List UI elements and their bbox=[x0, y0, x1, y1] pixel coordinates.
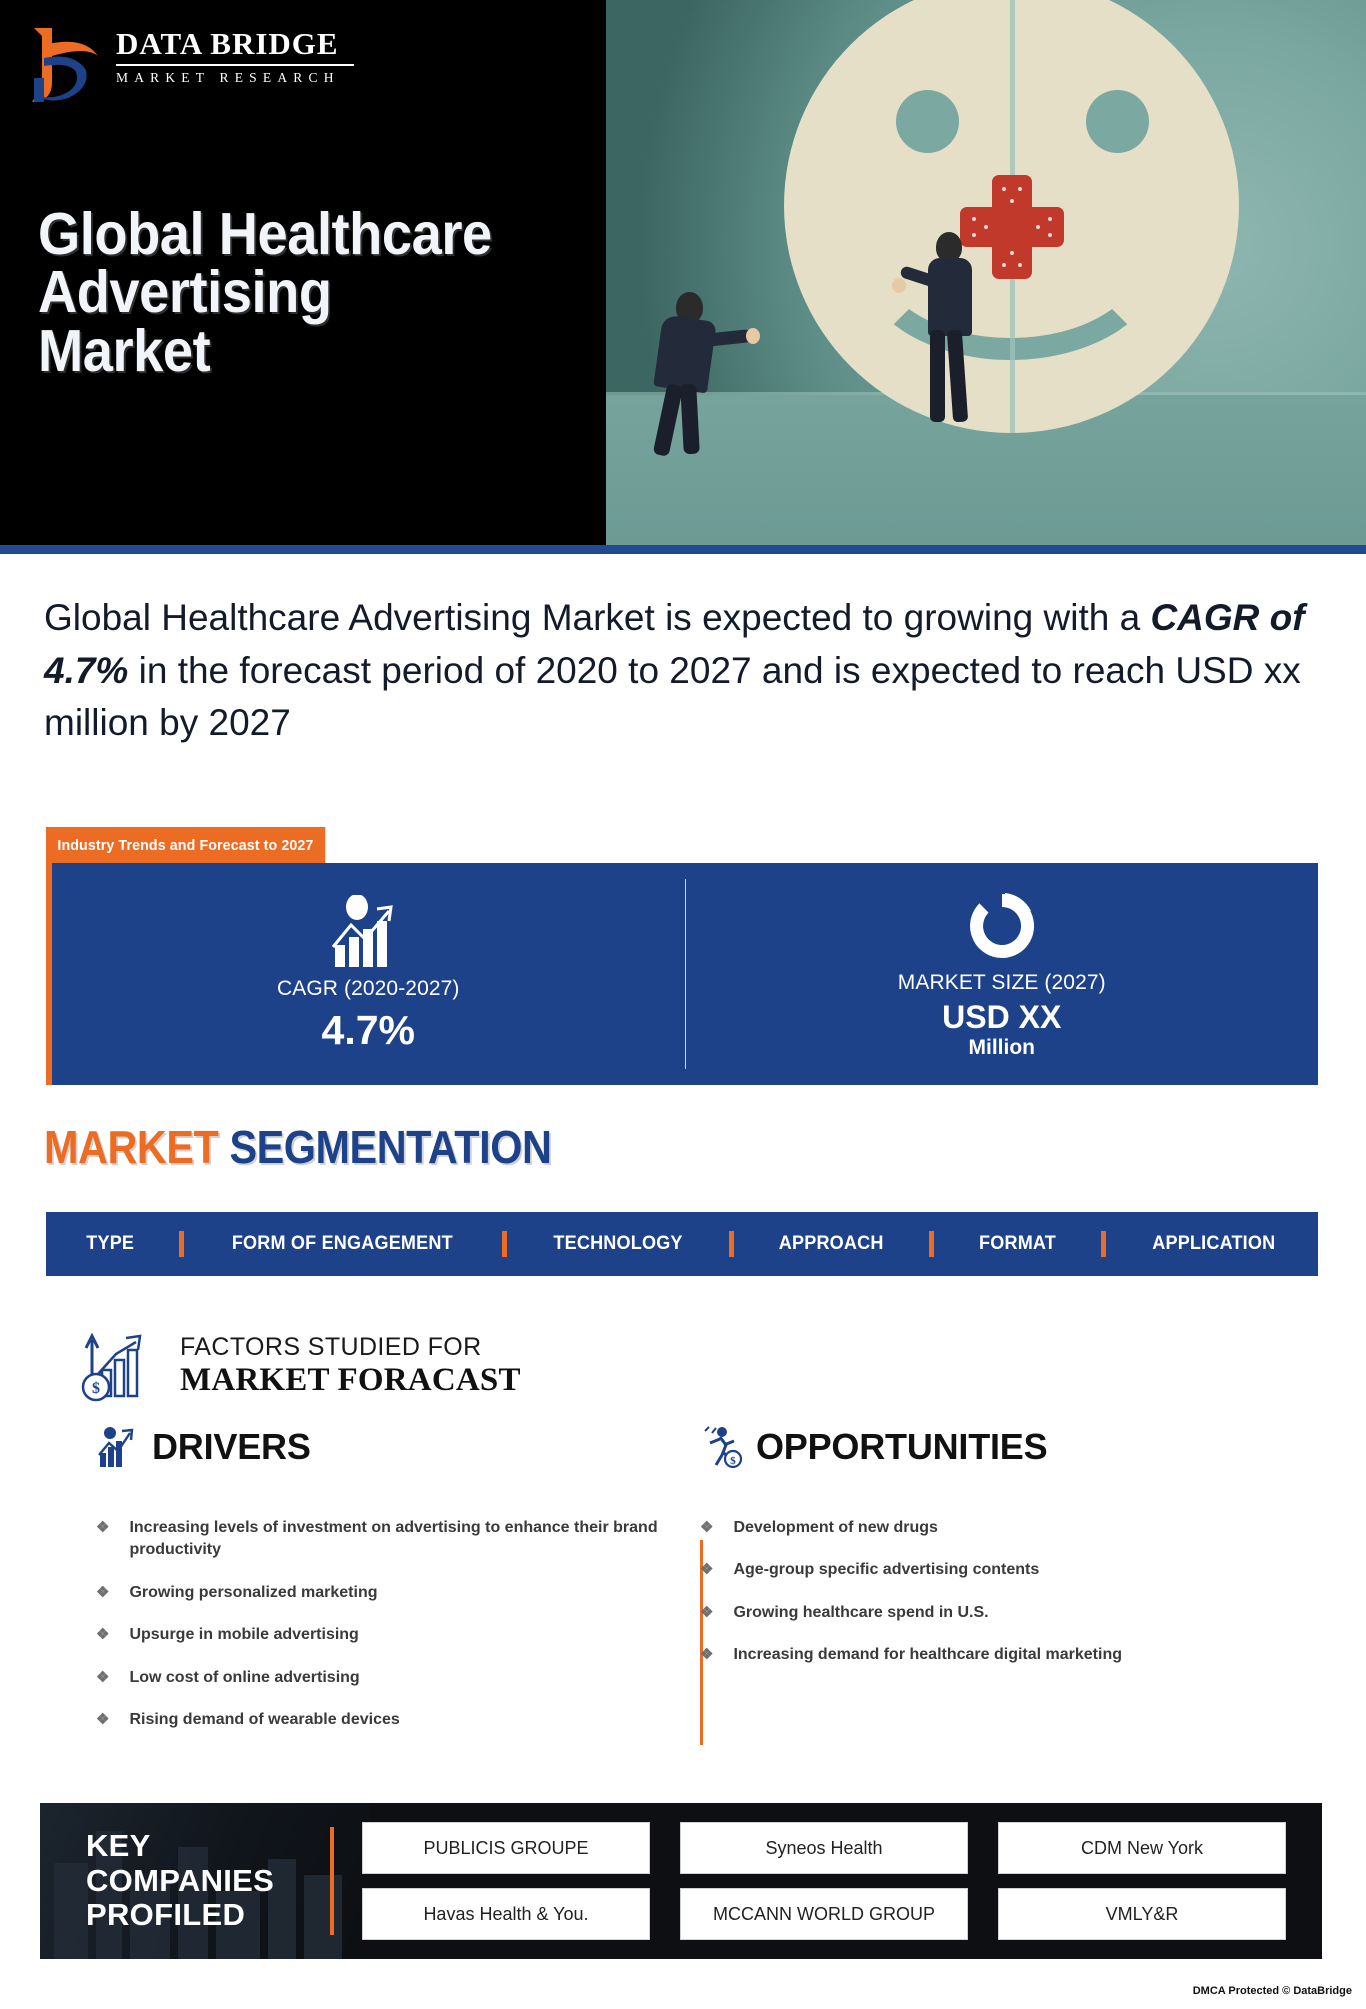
dmca-notice: DMCA Protected © DataBridge bbox=[1193, 1985, 1352, 1997]
drivers-header: DRIVERS bbox=[96, 1425, 666, 1469]
opportunities-list: ❖Development of new drugs ❖Age-group spe… bbox=[700, 1517, 1220, 1667]
hero-banner: DATA BRIDGE MARKET RESEARCH Global Healt… bbox=[0, 0, 1366, 545]
page-title-line2: Advertising bbox=[38, 263, 492, 321]
stat-cagr: CAGR (2020-2027) 4.7% bbox=[52, 863, 685, 1085]
bullet-diamond-icon: ❖ bbox=[96, 1667, 109, 1689]
bullet-diamond-icon: ❖ bbox=[96, 1582, 109, 1604]
brand-name-line2: MARKET RESEARCH bbox=[116, 70, 354, 86]
segmentation-separator bbox=[1101, 1231, 1106, 1257]
businessman-right-icon bbox=[902, 232, 998, 427]
stat-market-size: MARKET SIZE (2027) USD XX Million bbox=[686, 863, 1319, 1085]
factors-studied-header: $ FACTORS STUDIED FOR MARKET FORACAST bbox=[80, 1330, 521, 1402]
factors-line1: FACTORS STUDIED FOR bbox=[180, 1333, 521, 1362]
company-chip[interactable]: PUBLICIS GROUPE bbox=[362, 1822, 650, 1874]
businessman-left-icon bbox=[646, 292, 756, 457]
drivers-item-3: Low cost of online advertising bbox=[129, 1667, 359, 1689]
bar-chart-growth-person-icon bbox=[327, 895, 409, 969]
opportunities-column: $ OPPORTUNITIES ❖Development of new drug… bbox=[700, 1425, 1220, 1687]
list-item: ❖Growing personalized marketing bbox=[96, 1582, 666, 1604]
company-chip[interactable]: MCCANN WORLD GROUP bbox=[680, 1888, 968, 1940]
bullet-diamond-icon: ❖ bbox=[96, 1709, 109, 1731]
segmentation-item-format[interactable]: FORMAT bbox=[979, 1233, 1056, 1255]
page-title-line3: Market bbox=[38, 322, 492, 380]
list-item: ❖Increasing levels of investment on adve… bbox=[96, 1517, 666, 1562]
opportunities-item-3: Increasing demand for healthcare digital… bbox=[733, 1644, 1122, 1666]
industry-trends-tag: Industry Trends and Forecast to 2027 bbox=[46, 827, 325, 863]
stat-cagr-value: 4.7% bbox=[322, 1007, 415, 1054]
key-companies-title-line3: PROFILED bbox=[86, 1898, 330, 1933]
segmentation-item-type[interactable]: TYPE bbox=[87, 1233, 135, 1255]
segmentation-item-application[interactable]: APPLICATION bbox=[1152, 1233, 1275, 1255]
stats-box: CAGR (2020-2027) 4.7% MARKET SIZE (2027)… bbox=[46, 863, 1318, 1085]
company-chip[interactable]: Havas Health & You. bbox=[362, 1888, 650, 1940]
svg-text:$: $ bbox=[730, 1455, 736, 1467]
bullet-diamond-icon: ❖ bbox=[700, 1559, 713, 1581]
stat-market-size-label: MARKET SIZE (2027) bbox=[898, 971, 1106, 995]
infographic-page: DATA BRIDGE MARKET RESEARCH Global Healt… bbox=[0, 0, 1366, 2009]
opportunities-item-0: Development of new drugs bbox=[733, 1517, 937, 1539]
key-companies-title-line2: COMPANIES bbox=[86, 1864, 330, 1899]
running-person-dollar-icon: $ bbox=[700, 1425, 744, 1469]
bullet-diamond-icon: ❖ bbox=[700, 1602, 713, 1624]
smiley-eye-right bbox=[1086, 90, 1149, 153]
segmentation-heading-blue: SEGMENTATION bbox=[229, 1121, 551, 1173]
segmentation-separator bbox=[179, 1231, 184, 1257]
list-item: ❖Growing healthcare spend in U.S. bbox=[700, 1602, 1220, 1624]
drivers-item-4: Rising demand of wearable devices bbox=[129, 1709, 399, 1731]
segmentation-item-approach[interactable]: APPROACH bbox=[779, 1233, 884, 1255]
company-chip[interactable]: Syneos Health bbox=[680, 1822, 968, 1874]
key-companies-grid: PUBLICIS GROUPE Syneos Health CDM New Yo… bbox=[362, 1822, 1322, 1940]
bullet-diamond-icon: ❖ bbox=[700, 1517, 713, 1539]
drivers-title: DRIVERS bbox=[152, 1426, 311, 1468]
list-item: ❖Low cost of online advertising bbox=[96, 1667, 666, 1689]
stat-cagr-label: CAGR (2020-2027) bbox=[277, 977, 460, 1001]
segmentation-item-technology[interactable]: TECHNOLOGY bbox=[553, 1233, 682, 1255]
intro-paragraph: Global Healthcare Advertising Market is … bbox=[44, 592, 1334, 750]
list-item: ❖Development of new drugs bbox=[700, 1517, 1220, 1539]
page-title: Global Healthcare Advertising Market bbox=[38, 205, 492, 380]
bullet-diamond-icon: ❖ bbox=[96, 1624, 109, 1646]
key-companies-section: KEY COMPANIES PROFILED PUBLICIS GROUPE S… bbox=[40, 1803, 1322, 1959]
drivers-column: DRIVERS ❖Increasing levels of investment… bbox=[96, 1425, 666, 1751]
page-title-line1: Global Healthcare bbox=[38, 205, 492, 263]
svg-text:$: $ bbox=[92, 1380, 100, 1397]
factors-studied-text: FACTORS STUDIED FOR MARKET FORACAST bbox=[180, 1333, 521, 1399]
brand-name-line1: DATA BRIDGE bbox=[116, 28, 354, 59]
smiley-face-icon bbox=[784, 0, 1239, 433]
stat-market-size-value: USD XX bbox=[942, 999, 1061, 1036]
segmentation-heading: MARKET SEGMENTATION bbox=[44, 1120, 551, 1174]
list-item: ❖Age-group specific advertising contents bbox=[700, 1559, 1220, 1581]
company-chip[interactable]: VMLY&R bbox=[998, 1888, 1286, 1940]
drivers-item-1: Growing personalized marketing bbox=[129, 1582, 377, 1604]
company-chip[interactable]: CDM New York bbox=[998, 1822, 1286, 1874]
databridge-logo-icon bbox=[28, 22, 102, 106]
segmentation-separator bbox=[502, 1231, 507, 1257]
opportunities-item-1: Age-group specific advertising contents bbox=[733, 1559, 1039, 1581]
list-item: ❖Rising demand of wearable devices bbox=[96, 1709, 666, 1731]
opportunities-title: OPPORTUNITIES bbox=[756, 1426, 1047, 1468]
donut-chart-icon bbox=[965, 889, 1039, 963]
hero-bottom-rule bbox=[0, 545, 1366, 554]
brand-logo-rule bbox=[116, 64, 354, 66]
opportunities-header: $ OPPORTUNITIES bbox=[700, 1425, 1220, 1469]
bullet-diamond-icon: ❖ bbox=[700, 1644, 713, 1666]
hero-illustration bbox=[606, 0, 1366, 545]
segmentation-separator bbox=[729, 1231, 734, 1257]
key-companies-title: KEY COMPANIES PROFILED bbox=[40, 1829, 330, 1933]
bullet-diamond-icon: ❖ bbox=[96, 1517, 109, 1562]
segmentation-item-form-of-engagement[interactable]: FORM OF ENGAGEMENT bbox=[232, 1233, 453, 1255]
factors-line2: MARKET FORACAST bbox=[180, 1362, 521, 1399]
segmentation-bar: TYPE FORM OF ENGAGEMENT TECHNOLOGY APPRO… bbox=[46, 1212, 1318, 1276]
brand-logo-text: DATA BRIDGE MARKET RESEARCH bbox=[116, 28, 354, 86]
brand-logo: DATA BRIDGE MARKET RESEARCH bbox=[28, 18, 358, 110]
person-bar-chart-icon bbox=[96, 1425, 140, 1469]
stat-market-size-unit: Million bbox=[969, 1036, 1036, 1060]
intro-part2: in the forecast period of 2020 to 2027 a… bbox=[44, 650, 1301, 744]
key-companies-title-line1: KEY bbox=[86, 1829, 330, 1864]
opportunities-item-2: Growing healthcare spend in U.S. bbox=[733, 1602, 988, 1624]
drivers-item-2: Upsurge in mobile advertising bbox=[129, 1624, 358, 1646]
segmentation-separator bbox=[929, 1231, 934, 1257]
bar-chart-dollar-arrow-icon: $ bbox=[80, 1330, 166, 1402]
drivers-item-0: Increasing levels of investment on adver… bbox=[129, 1517, 666, 1562]
intro-part1: Global Healthcare Advertising Market is … bbox=[44, 597, 1150, 638]
segmentation-heading-orange: MARKET bbox=[44, 1121, 218, 1173]
smiley-eye-left bbox=[896, 90, 959, 153]
list-item: ❖Upsurge in mobile advertising bbox=[96, 1624, 666, 1646]
key-companies-divider bbox=[330, 1827, 334, 1935]
list-item: ❖Increasing demand for healthcare digita… bbox=[700, 1644, 1220, 1666]
drivers-list: ❖Increasing levels of investment on adve… bbox=[96, 1517, 666, 1731]
